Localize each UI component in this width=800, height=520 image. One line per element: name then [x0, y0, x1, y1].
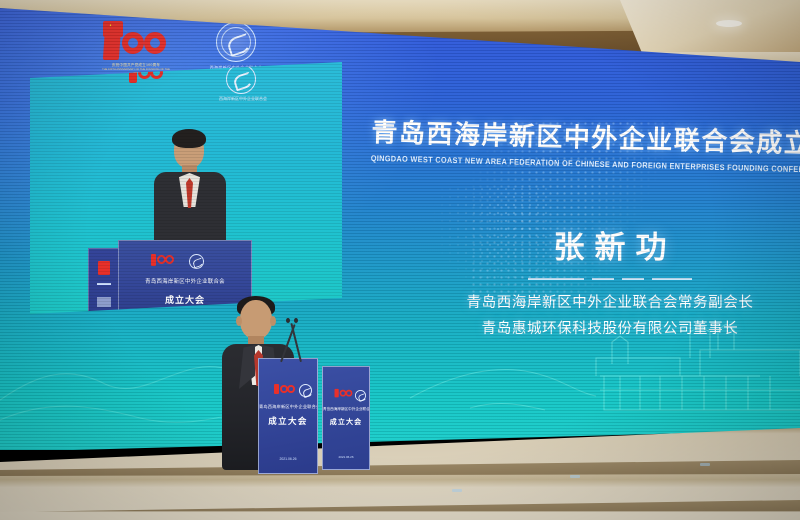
podium-main-panel: 青岛西海岸新区中外企业联合会 成立大会 2021.06.26: [258, 358, 318, 474]
event-headline: 青岛西海岸新区中外企业联合会成立大会 QINGDAO WEST COAST NE…: [371, 112, 784, 173]
speaker-title-line-1: 青岛西海岸新区中外企业联合会常务副会长: [432, 290, 788, 316]
conference-photo: ★ 庆祝中国共产党成立100周年 THE 100TH ANNIVERSARY O…: [0, 0, 800, 520]
podium-federation-emblem-icon: [299, 384, 312, 397]
podium-second-federation-emblem-icon: [355, 390, 366, 401]
speaker-name: 张新功: [432, 222, 788, 267]
speaker-name-card: 张新功 青岛西海岸新区中外企业联合会常务副会长 青岛惠城环保科技股份有限公司董事…: [432, 222, 788, 342]
podium-second-sign-line-2: 成立大会: [323, 417, 369, 427]
podium-second-sign-date: 2021.06.26: [323, 455, 369, 459]
floor-marker: [700, 463, 710, 466]
podium-cpc-100-logo-icon: [273, 385, 295, 395]
podium-sign-line-1: 青岛西海岸新区中外企业联合会: [259, 404, 317, 410]
feed-pixel-texture: [30, 62, 342, 314]
podium-sign-line-2: 成立大会: [259, 415, 317, 427]
floor-marker: [570, 475, 580, 478]
podium-second-sign-line-1: 青岛西海岸新区中外企业联合会: [323, 407, 369, 412]
floor-marker: [452, 489, 462, 492]
podium-second-cpc-100-logo-icon: [334, 390, 353, 399]
speaker-title-line-2: 青岛惠城环保科技股份有限公司董事长: [432, 316, 788, 342]
podium-sign-date: 2021.06.26: [259, 457, 317, 461]
headline-chinese: 青岛西海岸新区中外企业联合会成立大会: [371, 112, 784, 160]
live-camera-feed: 西海岸新区中外企业联合会 青岛西海岸新区中外企业联合会 成立大会: [30, 62, 342, 314]
podium-second-panel: 青岛西海岸新区中外企业联合会 成立大会 2021.06.26: [322, 366, 370, 470]
name-divider: [432, 278, 788, 280]
ceiling-light-icon: [716, 20, 742, 27]
microphone-head-right-icon: [294, 318, 298, 323]
microphone-head-left-icon: [286, 318, 290, 323]
